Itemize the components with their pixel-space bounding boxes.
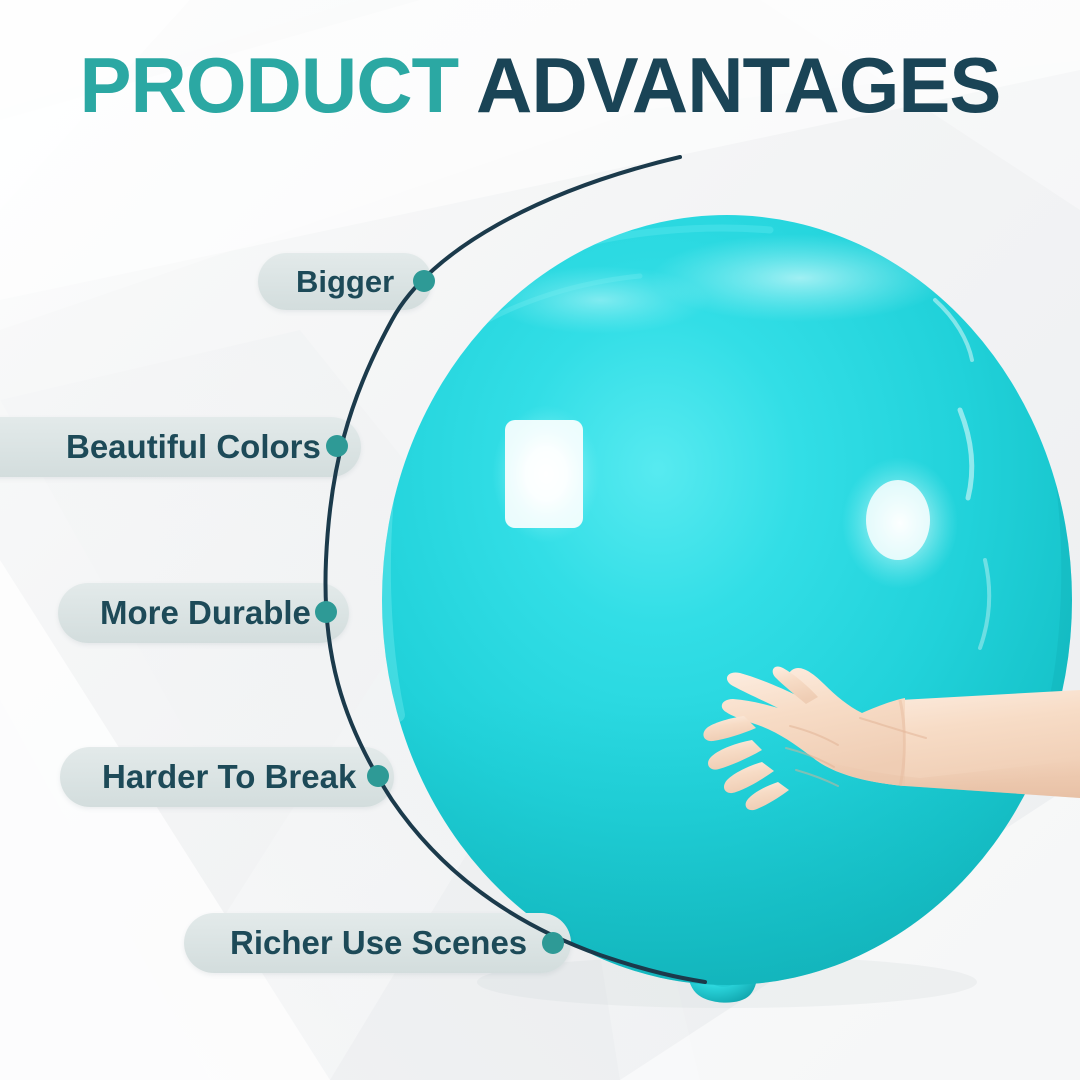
- page-title-dark: ADVANTAGES: [476, 41, 1000, 129]
- connector-diagram: [0, 0, 1080, 1080]
- connector-dot: [413, 270, 435, 292]
- connector-dot: [315, 601, 337, 623]
- page-title: PRODUCT ADVANTAGES: [0, 46, 1080, 124]
- connector-dot: [367, 765, 389, 787]
- connector-dot-group: [315, 270, 564, 954]
- connector-dot: [542, 932, 564, 954]
- connector-dot: [326, 435, 348, 457]
- page-title-accent: PRODUCT: [80, 41, 459, 129]
- connector-arc: [325, 157, 705, 982]
